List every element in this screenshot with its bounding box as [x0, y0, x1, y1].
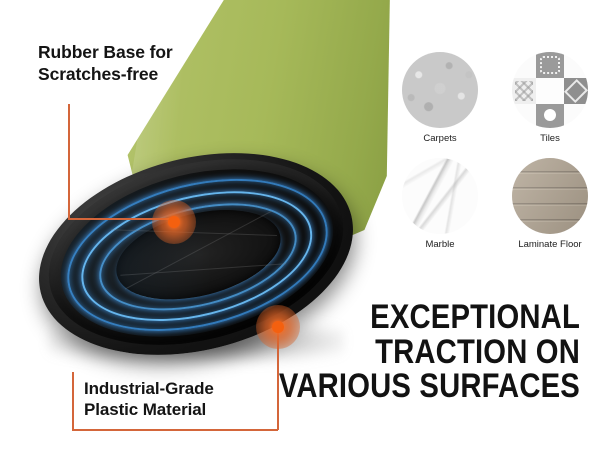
laminate-texture-icon: [512, 158, 588, 234]
surface-swatch-marble-label: Marble: [402, 240, 478, 250]
surface-swatch-marble: Marble: [402, 158, 478, 250]
surface-swatch-grid: Carpets Tiles Marble Laminat: [402, 52, 588, 265]
tile-pattern-block: [536, 78, 564, 104]
leader-line-plastic-material: [72, 372, 74, 430]
headline-line1: EXCEPTIONAL: [270, 300, 580, 335]
surface-swatch-laminate-floor: Laminate Floor: [512, 158, 588, 250]
tiles-texture-icon: [512, 52, 588, 128]
tile-pattern-block: [536, 52, 564, 78]
surface-swatch-carpets: Carpets: [402, 52, 478, 144]
leader-line-plastic-material: [72, 429, 278, 431]
headline-line2: TRACTION ON: [270, 335, 580, 370]
surface-swatch-tiles: Tiles: [512, 52, 588, 144]
callout-rubber-base-line2: Scratches-free: [38, 64, 268, 86]
surface-swatch-laminate-floor-label: Laminate Floor: [512, 240, 588, 250]
hotspot-marker-rubber-base: [152, 200, 196, 244]
tile-pattern-block: [512, 78, 536, 104]
headline-line3: VARIOUS SURFACES: [270, 369, 580, 404]
leader-line-rubber-base: [68, 104, 70, 220]
surface-swatch-row: Marble Laminate Floor: [402, 158, 588, 250]
surface-swatch-tiles-label: Tiles: [512, 134, 588, 144]
carpet-texture-icon: [402, 52, 478, 128]
surface-swatch-row: Carpets Tiles: [402, 52, 588, 144]
surface-swatch-carpets-label: Carpets: [402, 134, 478, 144]
tile-pattern-block: [564, 78, 588, 104]
product-feature-graphic: Rubber Base for Scratches-free Industria…: [0, 0, 600, 450]
headline: EXCEPTIONAL TRACTION ON VARIOUS SURFACES: [270, 300, 580, 404]
callout-rubber-base: Rubber Base for Scratches-free: [38, 42, 268, 86]
tile-pattern-block: [536, 104, 564, 128]
marble-texture-icon: [402, 158, 478, 234]
callout-rubber-base-line1: Rubber Base for: [38, 42, 268, 64]
